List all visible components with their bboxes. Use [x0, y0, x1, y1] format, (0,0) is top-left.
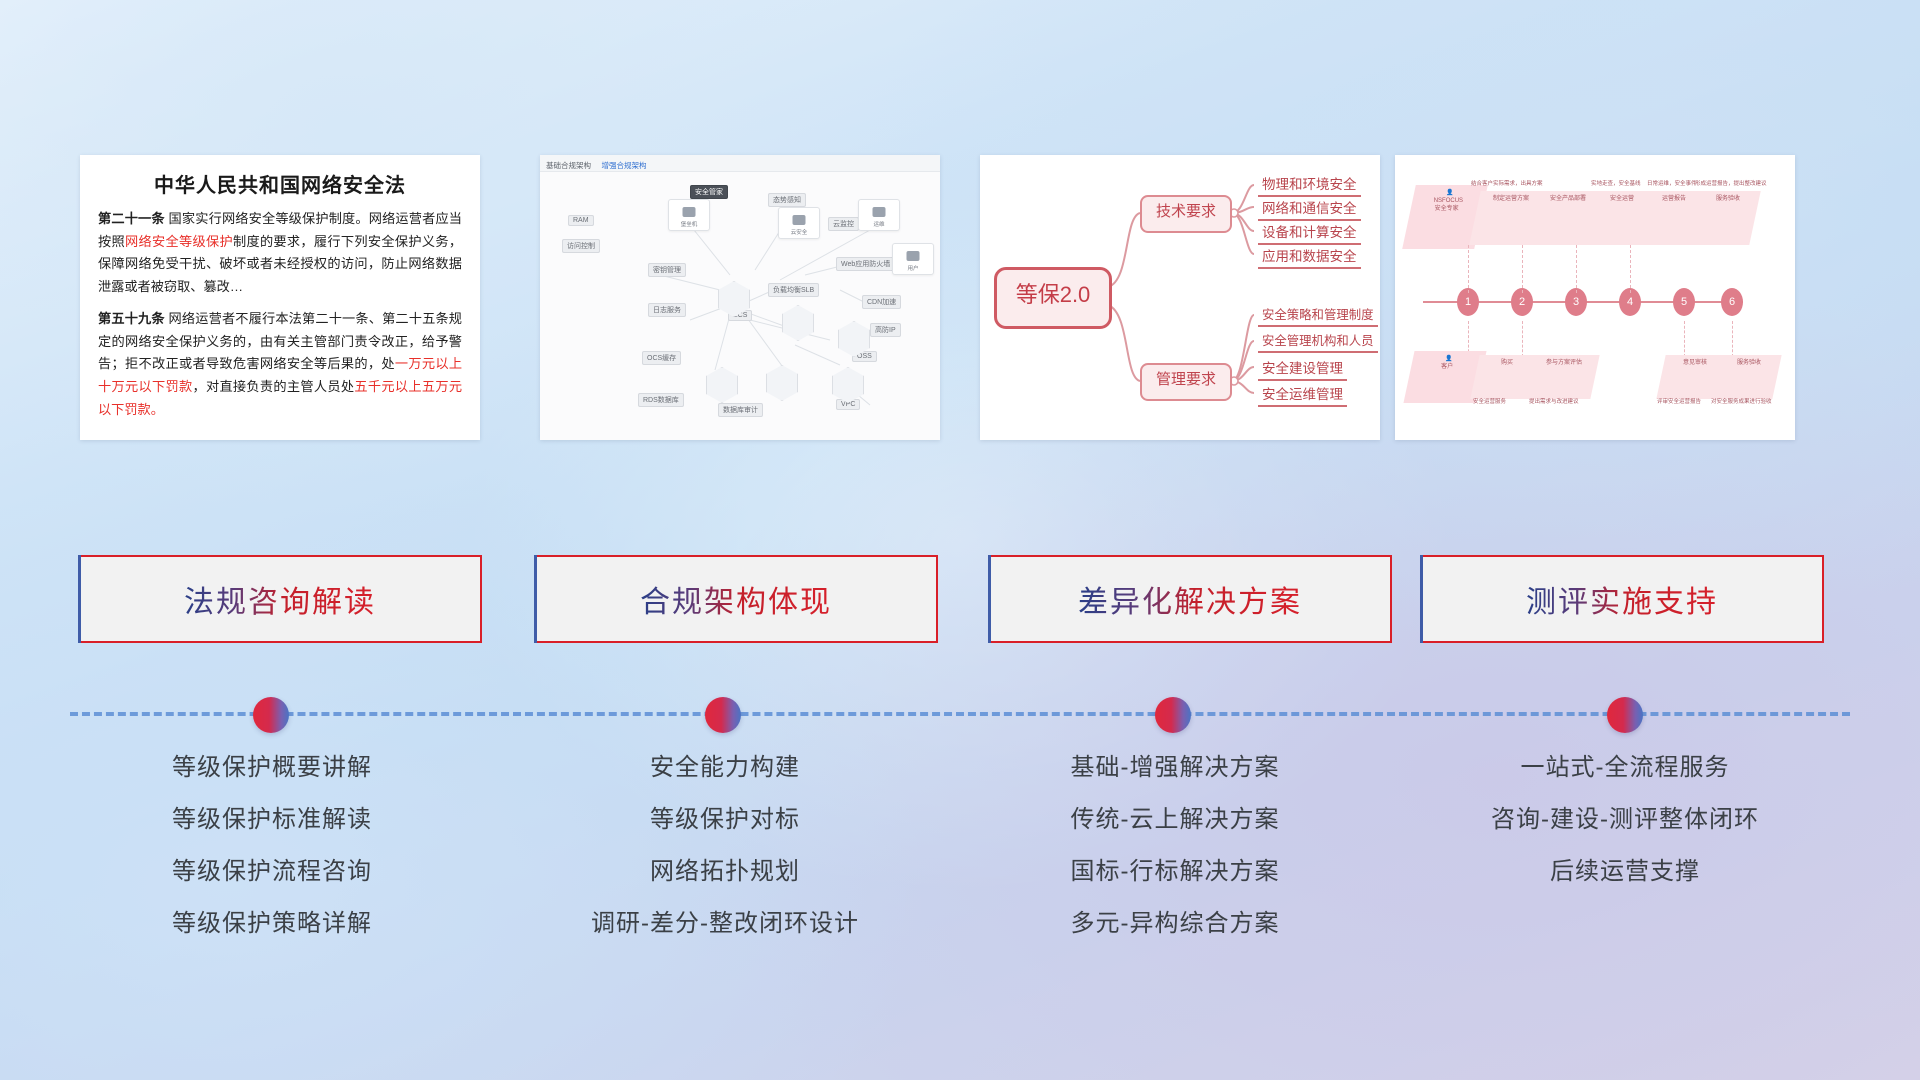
mindmap-diagram: 等保2.0 技术要求 管理要求 物理和环境安全 网络和通信安全 设备和计算安全 … — [980, 155, 1380, 440]
law-article-59-label: 第五十九条 — [98, 311, 165, 326]
section-list-3: 基础-增强解决方案 传统-云上解决方案 国标-行标解决方案 多元-异构综合方案 — [965, 742, 1385, 950]
section-list-1: 等级保护概要讲解 等级保护标准解读 等级保护流程咨询 等级保护策略详解 — [62, 742, 482, 950]
flow-bottom-note-1: 安全运营服务 — [1473, 397, 1506, 405]
section-list-4-items: 一站式-全流程服务 咨询-建设-测评整体闭环 后续运营支撑 — [1415, 742, 1835, 898]
list-item[interactable]: 等级保护流程咨询 — [62, 846, 482, 898]
list-item[interactable]: 等级保护标准解读 — [62, 794, 482, 846]
card-law-document[interactable]: 中华人民共和国网络安全法 第二十一条 国家实行网络安全等级保护制度。网络运营者应… — [80, 155, 480, 440]
timeline-dot-3[interactable] — [1155, 697, 1191, 733]
architecture-node-bastion: 堡垒机 — [668, 199, 710, 231]
law-article-21-highlight: 网络安全等级保护 — [125, 234, 233, 249]
architecture-hex-oss — [832, 321, 876, 359]
flow-customer-label: 客户 — [1416, 363, 1478, 371]
timeline-dot-4[interactable] — [1607, 697, 1643, 733]
flow-top-note-1: 结合客户实际需求，出具方案 — [1471, 179, 1543, 187]
architecture-tag-ram: RAM — [568, 215, 594, 226]
flow-bottom-chip-4: 服务验收 — [1710, 355, 1781, 399]
slide-canvas: 中华人民共和国网络安全法 第二十一条 国家实行网络安全等级保护制度。网络运营者应… — [0, 0, 1920, 1080]
flow-bottom-chip-2: 参与方案评估 — [1522, 355, 1599, 399]
flow-top-chip-5: 服务验收 — [1687, 191, 1760, 245]
list-item[interactable]: 等级保护策略详解 — [62, 898, 482, 950]
flow-dash-2 — [1522, 245, 1524, 293]
section-header-1[interactable]: 法规咨询解读 — [78, 555, 482, 643]
flow-dash-4 — [1630, 245, 1632, 293]
flow-top-chip-1-label: 制定运营方案 — [1484, 195, 1538, 203]
preview-cards-row: 中华人民共和国网络安全法 第二十一条 国家实行网络安全等级保护制度。网络运营者应… — [0, 155, 1920, 445]
section-list-3-items: 基础-增强解决方案 传统-云上解决方案 国标-行标解决方案 多元-异构综合方案 — [965, 742, 1385, 950]
flow-bottom-note-3: 评审安全运营报告 — [1657, 397, 1701, 405]
flow-dash-8 — [1732, 321, 1734, 357]
section-header-2-label: 合规架构体现 — [640, 577, 832, 621]
list-item[interactable]: 基础-增强解决方案 — [965, 742, 1385, 794]
list-item[interactable]: 多元-异构综合方案 — [965, 898, 1385, 950]
timeline-dashed-line — [70, 712, 1850, 716]
mindmap-branch-technical: 技术要求 — [1140, 195, 1232, 233]
timeline-dot-1[interactable] — [253, 697, 289, 733]
architecture-hex-audit — [760, 365, 804, 403]
architecture-tab-enhanced[interactable]: 增强合规架构 — [601, 158, 646, 174]
flow-top-note-3: 日常运维，安全事件 — [1647, 179, 1697, 187]
architecture-node-cloud-sec: 云安全 — [778, 207, 820, 239]
mindmap-leaf-construction: 安全建设管理 — [1258, 357, 1347, 381]
list-item[interactable]: 一站式-全流程服务 — [1415, 742, 1835, 794]
list-item[interactable]: 咨询-建设-测评整体闭环 — [1415, 794, 1835, 846]
flow-top-note-4: 形成运营报告，提出整改建议 — [1695, 179, 1767, 187]
section-list-1-items: 等级保护概要讲解 等级保护标准解读 等级保护流程咨询 等级保护策略详解 — [62, 742, 482, 950]
flow-expert-icon: 👤 — [1419, 189, 1481, 197]
mindmap-leaf-physical: 物理和环境安全 — [1258, 173, 1361, 197]
section-header-3[interactable]: 差异化解决方案 — [988, 555, 1392, 643]
flow-dash-6 — [1522, 321, 1524, 357]
architecture-tag-ocs: OCS缓存 — [642, 351, 681, 365]
flow-bottom-chip-2-label: 参与方案评估 — [1535, 359, 1593, 367]
flow-top-chip-5-label: 服务验收 — [1702, 195, 1754, 203]
section-list-2: 安全能力构建 等级保护对标 网络拓扑规划 调研-差分-整改闭环设计 — [515, 742, 935, 950]
mindmap-leaf-app-data: 应用和数据安全 — [1258, 245, 1361, 269]
flow-customer-icon: 👤 — [1418, 355, 1480, 363]
card-service-flow[interactable]: 👤 NSFOCUS 安全专家 制定运营方案 安全产品部署 安全运营 运营报告 服… — [1395, 155, 1795, 440]
law-document-body: 中华人民共和国网络安全法 第二十一条 国家实行网络安全等级保护制度。网络运营者应… — [80, 155, 480, 440]
flow-dash-1 — [1468, 245, 1470, 293]
architecture-hex-slb — [776, 305, 820, 343]
architecture-tag-monitor: 云监控 — [828, 217, 859, 231]
section-header-4[interactable]: 测评实施支持 — [1420, 555, 1824, 643]
list-item[interactable]: 等级保护对标 — [515, 794, 935, 846]
section-header-1-label: 法规咨询解读 — [184, 577, 376, 621]
flow-expert-label-2: 安全专家 — [1416, 205, 1478, 213]
mindmap-root-node: 等保2.0 — [994, 267, 1112, 329]
flow-bottom-note-4: 对安全服务成果进行验收 — [1711, 397, 1772, 405]
flow-bottom-chip-3-label: 意见审核 — [1669, 359, 1721, 367]
architecture-hex-rds — [700, 367, 744, 405]
flow-top-chip-4-label: 运营报告 — [1650, 195, 1698, 203]
list-item[interactable]: 传统-云上解决方案 — [965, 794, 1385, 846]
list-item[interactable]: 国标-行标解决方案 — [965, 846, 1385, 898]
law-article-59-text-b: ，对直接负责的主管人员处 — [192, 379, 354, 394]
architecture-tag-cdn: CDN加速 — [862, 295, 901, 309]
timeline-dot-2[interactable] — [705, 697, 741, 733]
section-list-2-items: 安全能力构建 等级保护对标 网络拓扑规划 调研-差分-整改闭环设计 — [515, 742, 935, 950]
section-header-4-label: 测评实施支持 — [1526, 577, 1718, 621]
section-header-3-label: 差异化解决方案 — [1078, 577, 1302, 621]
architecture-tag-slb: 负载均衡SLB — [768, 283, 819, 297]
service-flow-diagram: 👤 NSFOCUS 安全专家 制定运营方案 安全产品部署 安全运营 运营报告 服… — [1395, 155, 1795, 440]
architecture-tag-waf: Web应用防火墙 — [836, 257, 895, 271]
architecture-hex-vpc — [826, 367, 870, 405]
flow-step-5: 5 — [1673, 288, 1695, 316]
card-mindmap[interactable]: 等保2.0 技术要求 管理要求 物理和环境安全 网络和通信安全 设备和计算安全 … — [980, 155, 1380, 440]
mindmap-leaf-device: 设备和计算安全 — [1258, 221, 1361, 245]
architecture-tab-basic[interactable]: 基础合规架构 — [546, 158, 591, 174]
timeline — [0, 700, 1920, 730]
flow-dash-7 — [1684, 321, 1686, 357]
section-header-row: 法规咨询解读 合规架构体现 差异化解决方案 测评实施支持 — [0, 555, 1920, 647]
law-article-59: 第五十九条 网络运营者不履行本法第二十一条、第二十五条规定的网络安全保护义务的，… — [98, 308, 462, 422]
architecture-tag-key: 密钥管理 — [648, 263, 686, 277]
list-item[interactable]: 等级保护概要讲解 — [62, 742, 482, 794]
flow-expert-label-1: NSFOCUS — [1417, 197, 1479, 205]
section-lists-row: 等级保护概要讲解 等级保护标准解读 等级保护流程咨询 等级保护策略详解 安全能力… — [0, 742, 1920, 982]
mindmap-leaf-operation: 安全运维管理 — [1258, 383, 1347, 407]
flow-top-chip-3-label: 安全运营 — [1598, 195, 1646, 203]
architecture-tab-bar: 基础合规架构 增强合规架构 — [540, 155, 940, 172]
mindmap-branch-management: 管理要求 — [1140, 363, 1232, 401]
flow-bottom-chip-1-label: 购买 — [1483, 359, 1531, 367]
cloud-architecture-diagram: 基础合规架构 增强合规架构 安全管家 RAM 访 — [540, 155, 940, 440]
architecture-tag-log: 日志服务 — [648, 303, 686, 317]
section-list-4: 一站式-全流程服务 咨询-建设-测评整体闭环 后续运营支撑 — [1415, 742, 1835, 898]
list-item[interactable]: 网络拓扑规划 — [515, 846, 935, 898]
architecture-tag-center: 安全管家 — [690, 185, 728, 199]
law-document-title: 中华人民共和国网络安全法 — [98, 169, 462, 198]
list-item[interactable]: 安全能力构建 — [515, 742, 935, 794]
section-header-2[interactable]: 合规架构体现 — [534, 555, 938, 643]
flow-top-note-2: 实地走查，安全基线 — [1591, 179, 1641, 187]
architecture-tag-access: 访问控制 — [562, 239, 600, 253]
architecture-tag-situation: 态势感知 — [768, 193, 806, 207]
flow-bottom-chip-4-label: 服务验收 — [1723, 359, 1775, 367]
architecture-tag-audit: 数据库审计 — [718, 403, 763, 417]
architecture-node-ops: 运维 — [858, 199, 900, 231]
mindmap-leaf-policy: 安全策略和管理制度 — [1258, 305, 1378, 327]
flow-bottom-note-2: 提出需求与改进建议 — [1529, 397, 1579, 405]
flow-top-chip-2-label: 安全产品部署 — [1542, 195, 1594, 203]
list-item[interactable]: 调研-差分-整改闭环设计 — [515, 898, 935, 950]
architecture-tag-rds: RDS数据库 — [638, 393, 684, 407]
architecture-hex-ecs — [712, 281, 756, 319]
card-cloud-architecture[interactable]: 基础合规架构 增强合规架构 安全管家 RAM 访 — [540, 155, 940, 440]
flow-dash-3 — [1576, 245, 1578, 293]
law-article-21-label: 第二十一条 — [98, 211, 165, 226]
architecture-node-user: 用户 — [892, 243, 934, 275]
flow-step-6: 6 — [1721, 288, 1743, 316]
mindmap-leaf-org: 安全管理机构和人员 — [1258, 331, 1378, 353]
mindmap-leaf-network: 网络和通信安全 — [1258, 197, 1361, 221]
law-article-21: 第二十一条 国家实行网络安全等级保护制度。网络运营者应当按照网络安全等级保护制度… — [98, 208, 462, 299]
list-item[interactable]: 后续运营支撑 — [1415, 846, 1835, 898]
